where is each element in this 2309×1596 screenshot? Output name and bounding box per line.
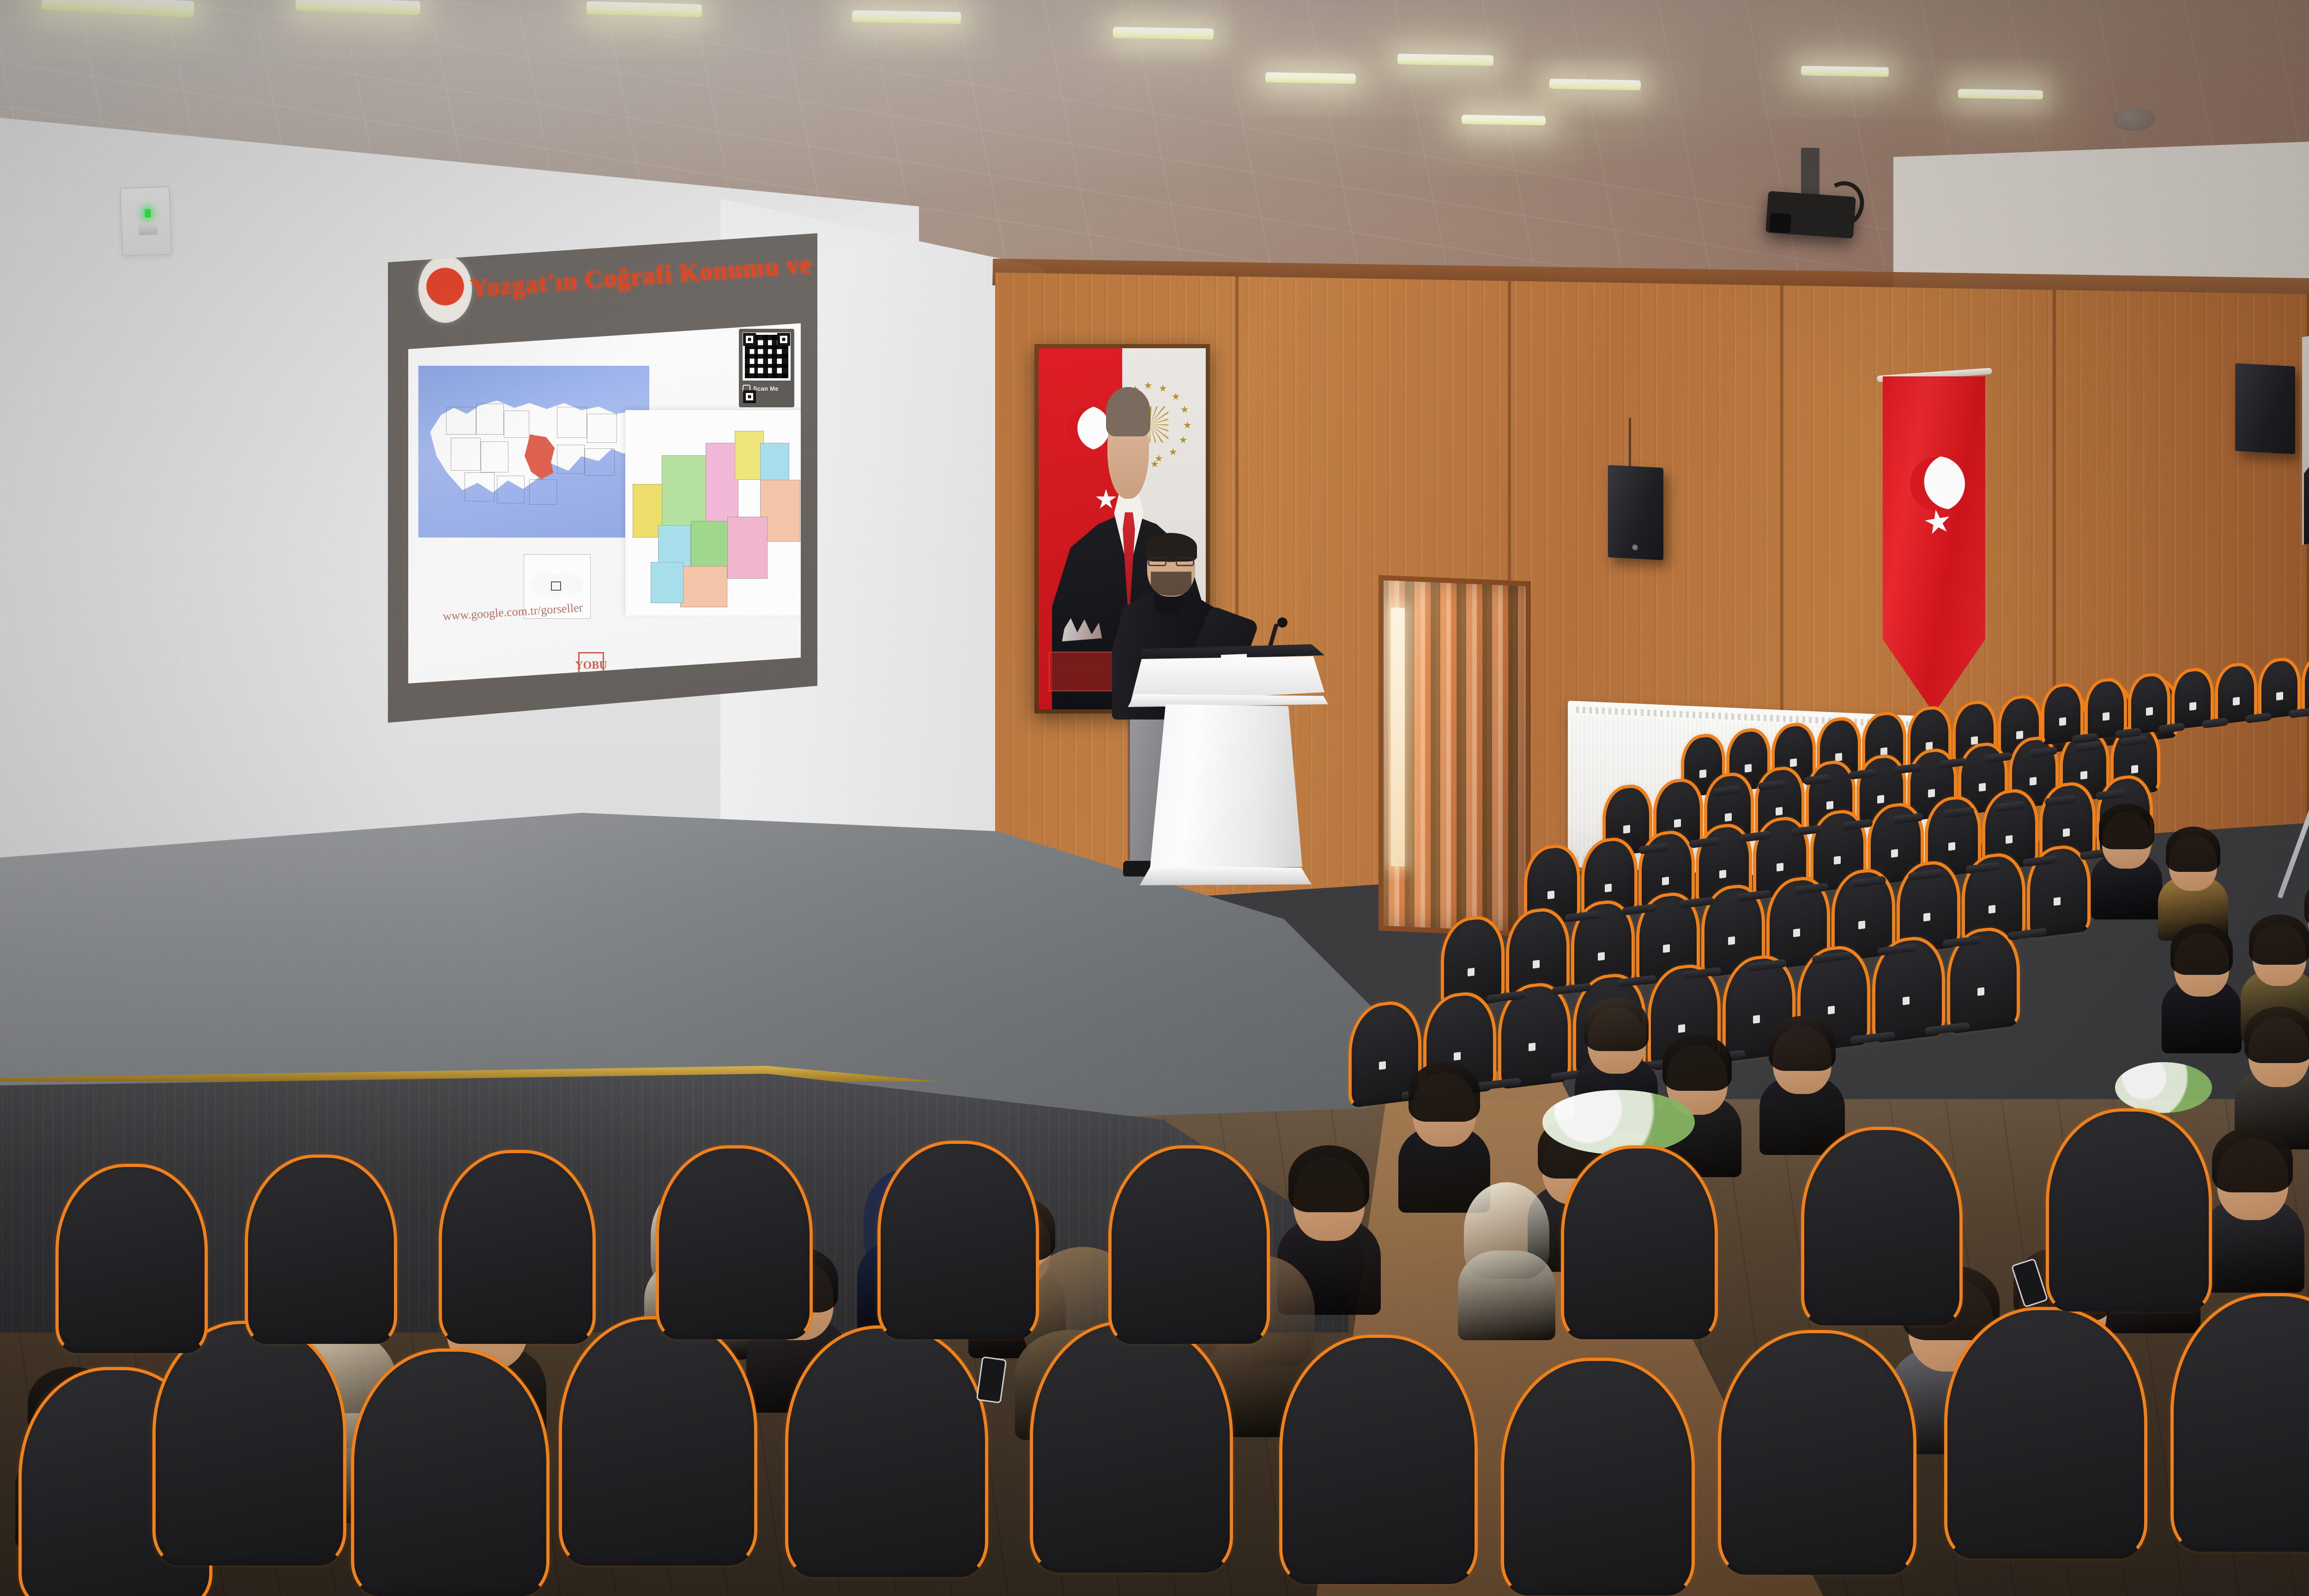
lectern-lip xyxy=(1128,694,1328,707)
auditorium-seat[interactable] xyxy=(877,1141,1039,1339)
emergency-light xyxy=(120,186,172,256)
audience-member xyxy=(2212,1127,2293,1286)
auditorium-seat[interactable] xyxy=(1501,1358,1695,1596)
slide-title: Yozgat'ın Coğrafi Konumu ve Tarihçesi xyxy=(469,250,803,303)
seat-number-tag xyxy=(2103,712,2110,721)
district-area xyxy=(651,562,683,603)
audience-member-hair xyxy=(1288,1145,1369,1212)
district-area xyxy=(680,566,728,607)
lectern-base xyxy=(1140,866,1312,885)
province-outline xyxy=(465,472,495,502)
seat-number-tag xyxy=(1605,883,1612,892)
presenter-leg-seam xyxy=(1128,712,1130,860)
eyeglasses-icon xyxy=(1147,557,1195,566)
fluorescent-panel-light xyxy=(1958,89,2043,99)
yobu-logo: YOBU xyxy=(578,652,604,679)
seat-number-tag xyxy=(1623,825,1630,834)
seat-number-tag xyxy=(2080,771,2087,780)
auditorium-seat[interactable] xyxy=(2302,650,2309,714)
crescent-icon xyxy=(1065,406,1110,450)
auditorium-seat[interactable] xyxy=(245,1155,397,1344)
seat-number-tag xyxy=(1719,870,1726,878)
slide-footer-left: Yozgat xyxy=(527,674,550,684)
audience-member-hair xyxy=(1662,1034,1732,1091)
seat-number-tag xyxy=(1753,1015,1760,1023)
seat-number-tag xyxy=(1858,921,1865,930)
slide-content-area: Scan Me xyxy=(408,323,801,683)
seat-piping xyxy=(2170,1293,2309,1552)
auditorium-seat[interactable] xyxy=(1108,1145,1270,1344)
seat-number-tag xyxy=(1678,1024,1685,1033)
qr-finder-pattern xyxy=(743,333,756,346)
emergency-light-grille xyxy=(139,223,157,235)
auditorium-seat[interactable] xyxy=(439,1150,596,1344)
seal-star-icon xyxy=(1144,381,1152,389)
presenter-beard xyxy=(1151,572,1191,596)
seat-number-tag xyxy=(1923,913,1930,922)
seat-number-tag xyxy=(1674,819,1681,828)
seat-piping xyxy=(1801,1127,1963,1325)
seat-number-tag xyxy=(2016,731,2023,739)
seat-piping xyxy=(1108,1145,1270,1344)
auditorium-seat[interactable] xyxy=(1030,1321,1233,1572)
audience-member xyxy=(2099,804,2154,914)
white-lectern xyxy=(1130,644,1324,884)
auditorium-seat[interactable] xyxy=(1718,1330,1916,1575)
seat-number-tag xyxy=(2063,828,2070,837)
flower-bouquet xyxy=(1542,1090,1695,1155)
seat-piping xyxy=(351,1348,550,1596)
seal-star-icon xyxy=(1155,454,1163,462)
district-area xyxy=(706,443,738,525)
audience-member-hair xyxy=(2099,804,2154,849)
seal-star-icon xyxy=(1151,460,1159,468)
auditorium-seat[interactable] xyxy=(785,1325,988,1577)
auditorium-seat[interactable] xyxy=(1561,1145,1718,1339)
curtain-lighting xyxy=(1384,580,1526,932)
seat-number-tag xyxy=(1948,842,1955,851)
seat-number-tag xyxy=(1454,1052,1461,1060)
seat-number-tag xyxy=(2276,692,2283,701)
audience-member xyxy=(2166,827,2220,936)
seat-piping xyxy=(1718,1330,1916,1575)
seat-number-tag xyxy=(2131,765,2138,774)
seat-number-tag xyxy=(2059,717,2066,726)
seat-number-tag xyxy=(2054,897,2061,906)
lectern-column xyxy=(1150,704,1302,870)
ceiling-vent xyxy=(2113,107,2155,131)
slide-footer-right: Bozok xyxy=(634,665,654,676)
seat-piping xyxy=(877,1141,1039,1339)
province-outline xyxy=(529,479,557,505)
audience-member-hair xyxy=(2244,1007,2309,1063)
seat-number-tag xyxy=(1903,996,1910,1005)
seat-number-tag xyxy=(1725,813,1732,822)
seat-piping xyxy=(439,1150,596,1344)
qr-code-panel[interactable]: Scan Me xyxy=(739,329,794,407)
auditorium-seat[interactable] xyxy=(2046,1108,2212,1312)
seat-number-tag xyxy=(1877,795,1884,804)
seat-number-tag xyxy=(1663,944,1670,953)
microphone-icon xyxy=(1277,617,1287,628)
inset-location-marker xyxy=(551,581,561,591)
ataturk-portrait xyxy=(2302,323,2309,545)
seat-number-tag xyxy=(1529,1042,1535,1051)
auditorium-seat[interactable] xyxy=(351,1348,550,1596)
qr-code xyxy=(743,332,791,381)
seat-piping xyxy=(2046,1108,2212,1312)
province-outline xyxy=(476,404,504,435)
seat-number-tag xyxy=(2233,697,2240,706)
district-area xyxy=(662,455,709,529)
auditorium-seat[interactable] xyxy=(2170,1293,2309,1552)
seat-number-tag xyxy=(2189,702,2196,711)
seal-star-icon xyxy=(1169,448,1177,456)
seat-number-tag xyxy=(1468,968,1475,977)
figure-hair xyxy=(1106,387,1151,436)
seat-piping xyxy=(1030,1321,1233,1572)
audience-member-hair xyxy=(2249,914,2309,965)
seat-piping xyxy=(1279,1335,1478,1584)
seat-piping xyxy=(245,1155,397,1344)
seat-number-tag xyxy=(1776,807,1783,816)
seat-number-tag xyxy=(2146,707,2153,716)
province-outline xyxy=(446,407,476,435)
seat-number-tag xyxy=(1977,987,1984,996)
auditorium-seat[interactable] xyxy=(559,1316,757,1566)
seat-piping xyxy=(2302,650,2309,714)
audience-member-hair xyxy=(2166,827,2220,872)
auditorium-photo: Yozgat'ın Coğrafi Konumu ve Tarihçesi xyxy=(0,0,2309,1596)
qr-finder-pattern xyxy=(777,333,790,346)
seal-star-icon xyxy=(1172,393,1180,400)
audience-member xyxy=(2170,924,2233,1048)
audience-member-hair xyxy=(2170,924,2233,975)
seat-number-tag xyxy=(1777,863,1783,871)
seat-number-tag xyxy=(1989,905,1995,914)
doorway-curtain[interactable] xyxy=(1384,580,1526,932)
projection-screen: Yozgat'ın Coğrafi Konumu ve Tarihçesi xyxy=(388,233,817,723)
audience-member-headscarf xyxy=(1464,1182,1549,1279)
seal-star-icon xyxy=(1184,421,1191,429)
seat-piping xyxy=(1561,1145,1718,1339)
audience-member xyxy=(1469,1182,1545,1334)
fluorescent-panel-light xyxy=(1265,72,1356,84)
seat-number-tag xyxy=(1379,1061,1386,1070)
auditorium-seat[interactable] xyxy=(152,1321,346,1566)
flower-bouquet xyxy=(2115,1062,2212,1113)
seat-piping xyxy=(656,1145,813,1339)
speaker-cable xyxy=(1629,418,1631,469)
auditorium-seat[interactable] xyxy=(1279,1335,1478,1584)
seat-number-tag xyxy=(2030,777,2037,786)
seat-number-tag xyxy=(1834,856,1841,864)
fluorescent-panel-light xyxy=(1397,54,1493,66)
seat-number-tag xyxy=(1928,789,1935,798)
seat-piping xyxy=(785,1325,988,1577)
province-outline xyxy=(497,476,525,503)
seat-number-tag xyxy=(2006,835,2013,844)
fluorescent-panel-light xyxy=(852,10,961,24)
doorway-frame xyxy=(1378,575,1531,937)
audience-member-hair xyxy=(1584,997,1649,1051)
auditorium-seat[interactable] xyxy=(1801,1127,1963,1325)
province-outline xyxy=(557,407,587,438)
qr-finder-pattern xyxy=(743,390,756,403)
speaker-led xyxy=(1632,544,1638,551)
seal-star-icon xyxy=(1179,436,1187,444)
audience-member-hair xyxy=(1408,1062,1480,1122)
turkey-provinces-map xyxy=(418,366,649,538)
province-outline xyxy=(481,441,508,472)
fluorescent-panel-light xyxy=(1462,115,1546,125)
province-outline xyxy=(451,438,481,471)
university-seal-logo xyxy=(418,255,472,323)
status-led-indicator xyxy=(145,209,151,218)
seat-piping xyxy=(152,1321,346,1566)
seat-number-tag xyxy=(1793,929,1800,937)
province-outline xyxy=(585,448,615,476)
province-outline xyxy=(587,414,617,443)
audience-member-hair xyxy=(1769,1016,1836,1071)
seat-piping xyxy=(55,1164,208,1353)
seat-number-tag xyxy=(1891,849,1898,858)
district-area xyxy=(760,443,789,484)
seat-number-tag xyxy=(1826,801,1833,810)
seat-number-tag xyxy=(1979,783,1986,792)
wall-speaker-right xyxy=(2235,363,2295,454)
province-outline xyxy=(504,411,529,438)
seat-piping xyxy=(1944,1307,2147,1559)
auditorium-seat[interactable] xyxy=(656,1145,813,1339)
projector-lens xyxy=(1769,212,1792,233)
seal-star-icon xyxy=(1159,384,1167,392)
fluorescent-panel-light xyxy=(1801,66,1889,77)
audience-member xyxy=(2244,1007,2309,1143)
presentation-slide: Yozgat'ın Coğrafi Konumu ve Tarihçesi xyxy=(388,233,817,723)
audience-member-hair xyxy=(2212,1127,2293,1192)
portrait-body xyxy=(2304,443,2309,545)
seat-piping xyxy=(1501,1358,1695,1596)
district-area xyxy=(735,431,764,480)
seat-number-tag xyxy=(1828,1005,1835,1014)
wall-speaker-left xyxy=(1608,465,1663,560)
fluorescent-panel-light xyxy=(1113,27,1214,40)
seat-number-tag xyxy=(1662,877,1669,885)
seat-number-tag xyxy=(1533,960,1540,969)
province-outline xyxy=(557,445,585,474)
yozgat-districts-map xyxy=(625,410,808,616)
seat-number-tag xyxy=(1547,890,1554,899)
district-area xyxy=(727,517,768,579)
auditorium-seat[interactable] xyxy=(55,1164,208,1353)
seat-number-tag xyxy=(1728,937,1735,945)
seal-star-icon xyxy=(1181,405,1189,413)
fluorescent-panel-light xyxy=(1549,79,1641,90)
seat-number-tag xyxy=(1598,952,1605,961)
seat-piping xyxy=(559,1316,757,1566)
qr-scan-me-text: Scan Me xyxy=(753,385,779,392)
auditorium-seat[interactable] xyxy=(1944,1307,2147,1559)
